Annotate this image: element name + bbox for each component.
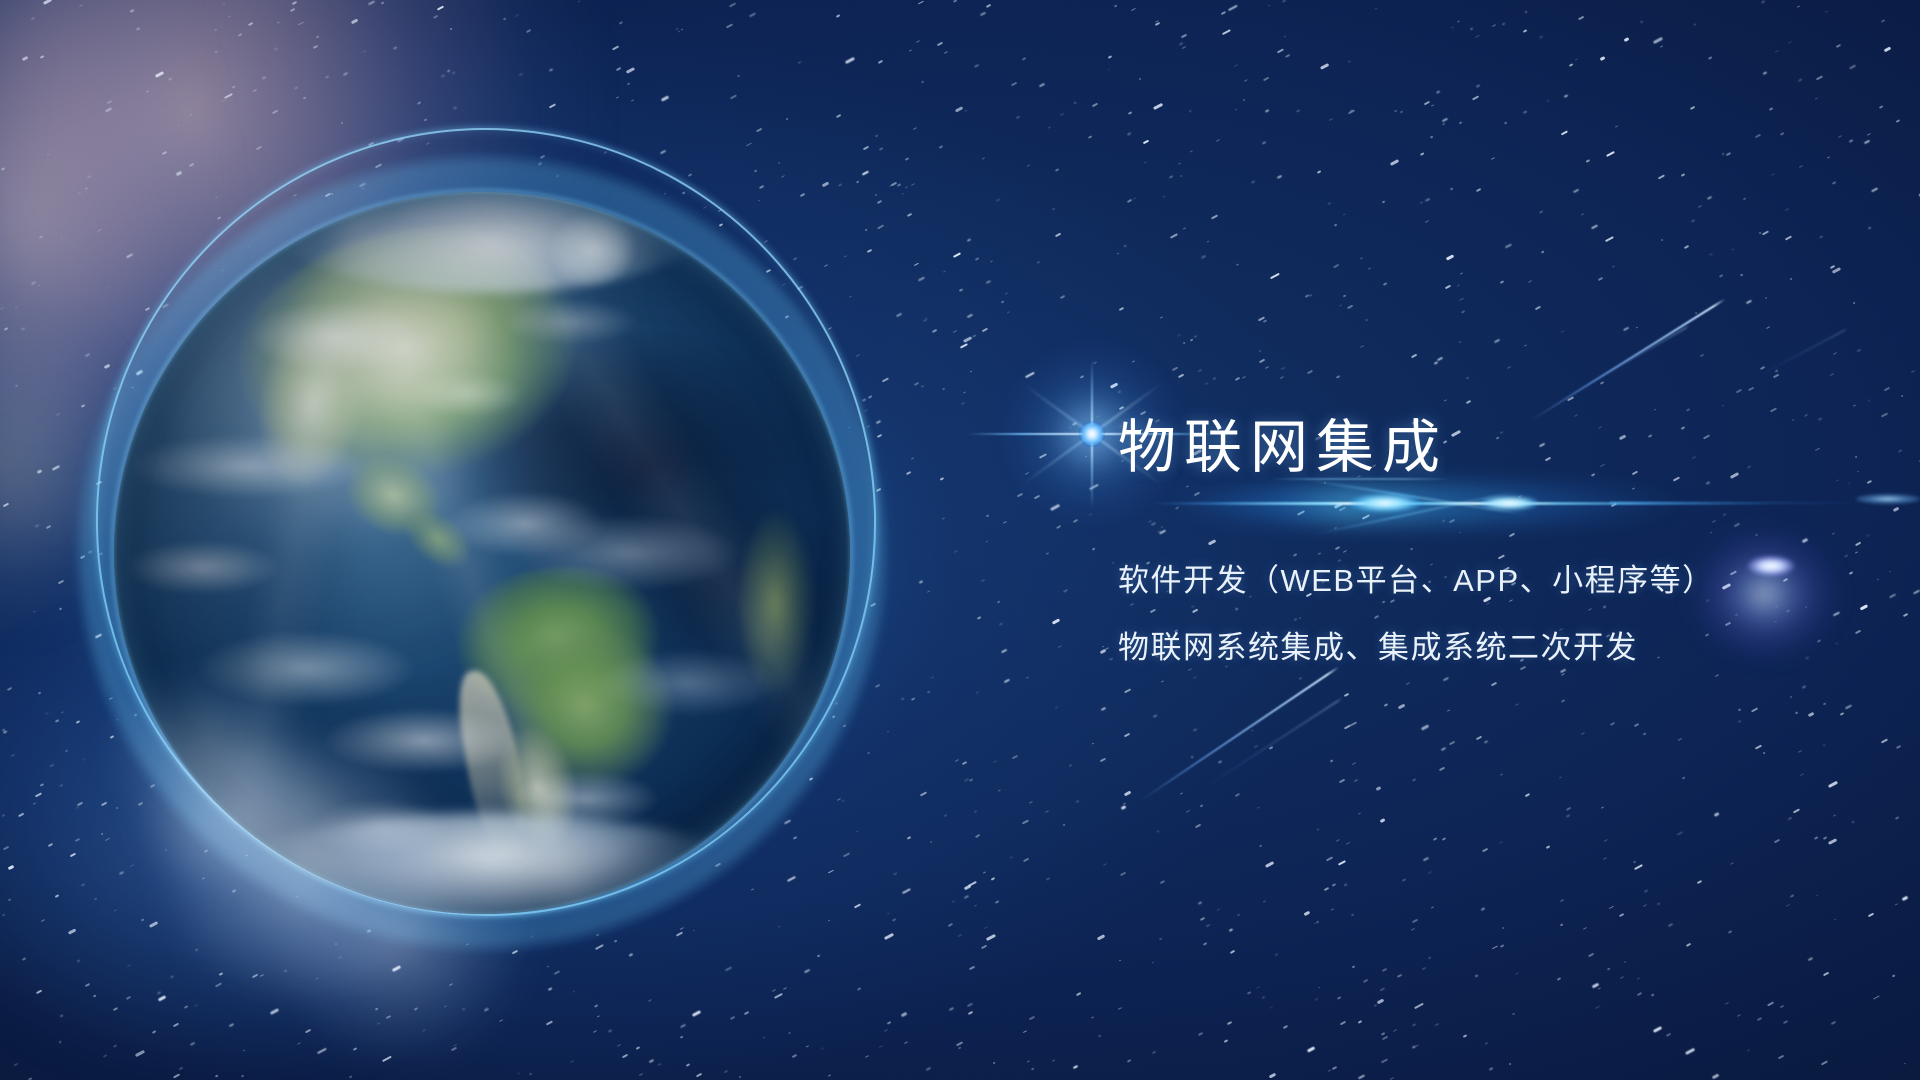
banner-stage: 物联网集成 软件开发（WEB平台、APP、小程序等） 物联网系统集成、集成系统二… bbox=[0, 0, 1920, 1080]
globe-mist-reflection-secondary bbox=[70, 640, 350, 860]
page-title: 物联网集成 bbox=[1118, 418, 1838, 479]
subtitle-line-2: 物联网系统集成、集成系统二次开发 bbox=[1118, 622, 1838, 667]
small-right-flare bbox=[1856, 494, 1920, 504]
banner-text-block: 物联网集成 软件开发（WEB平台、APP、小程序等） 物联网系统集成、集成系统二… bbox=[1118, 418, 1838, 667]
subtitle-line-1: 软件开发（WEB平台、APP、小程序等） bbox=[1118, 555, 1838, 600]
